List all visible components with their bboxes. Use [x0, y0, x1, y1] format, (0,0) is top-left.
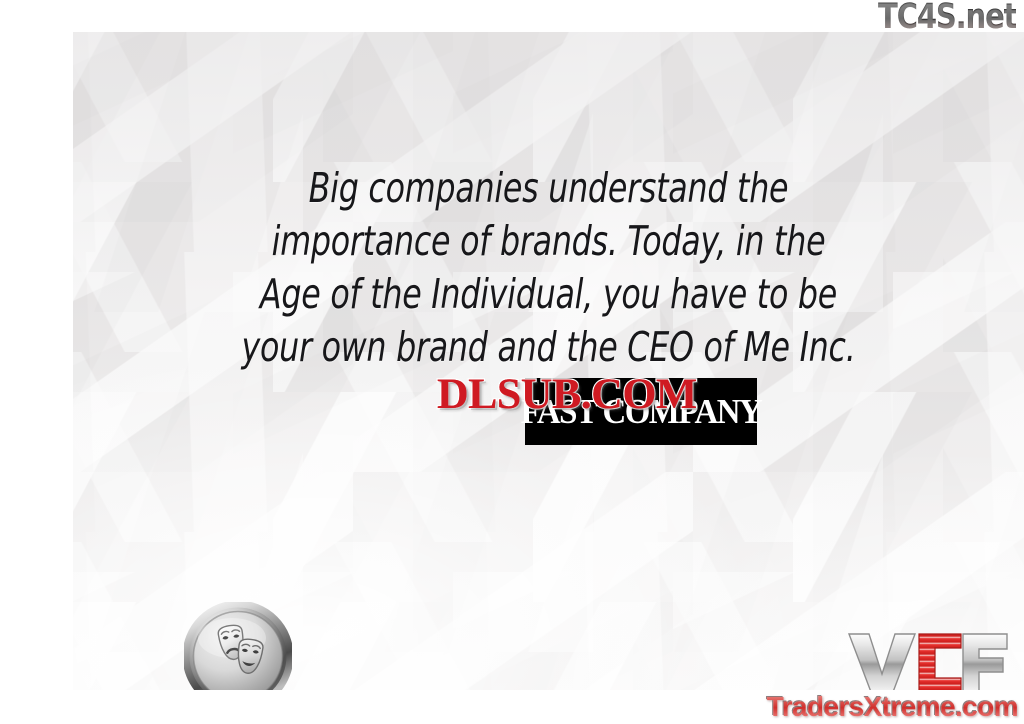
vcf-letter-v: [849, 634, 915, 690]
quote-text: Big companies understand the importance …: [140, 162, 958, 374]
vcf-logo: [843, 626, 1013, 690]
tradersxtreme-watermark: TradersXtreme.com: [767, 690, 1018, 724]
theater-masks-badge: [184, 602, 292, 690]
tc4s-site-logo: TC4S.net: [878, 0, 1016, 34]
theater-masks-icon: [184, 602, 292, 690]
vcf-logo-graphic: [843, 626, 1013, 690]
vcf-letter-f: [963, 634, 1007, 690]
vcf-letter-c: [919, 634, 961, 690]
dlsub-watermark: DLSUB.COM: [437, 373, 697, 416]
slide-panel: Big companies understand the importance …: [73, 32, 1024, 690]
screenshot-root: Big companies understand the importance …: [0, 0, 1024, 724]
